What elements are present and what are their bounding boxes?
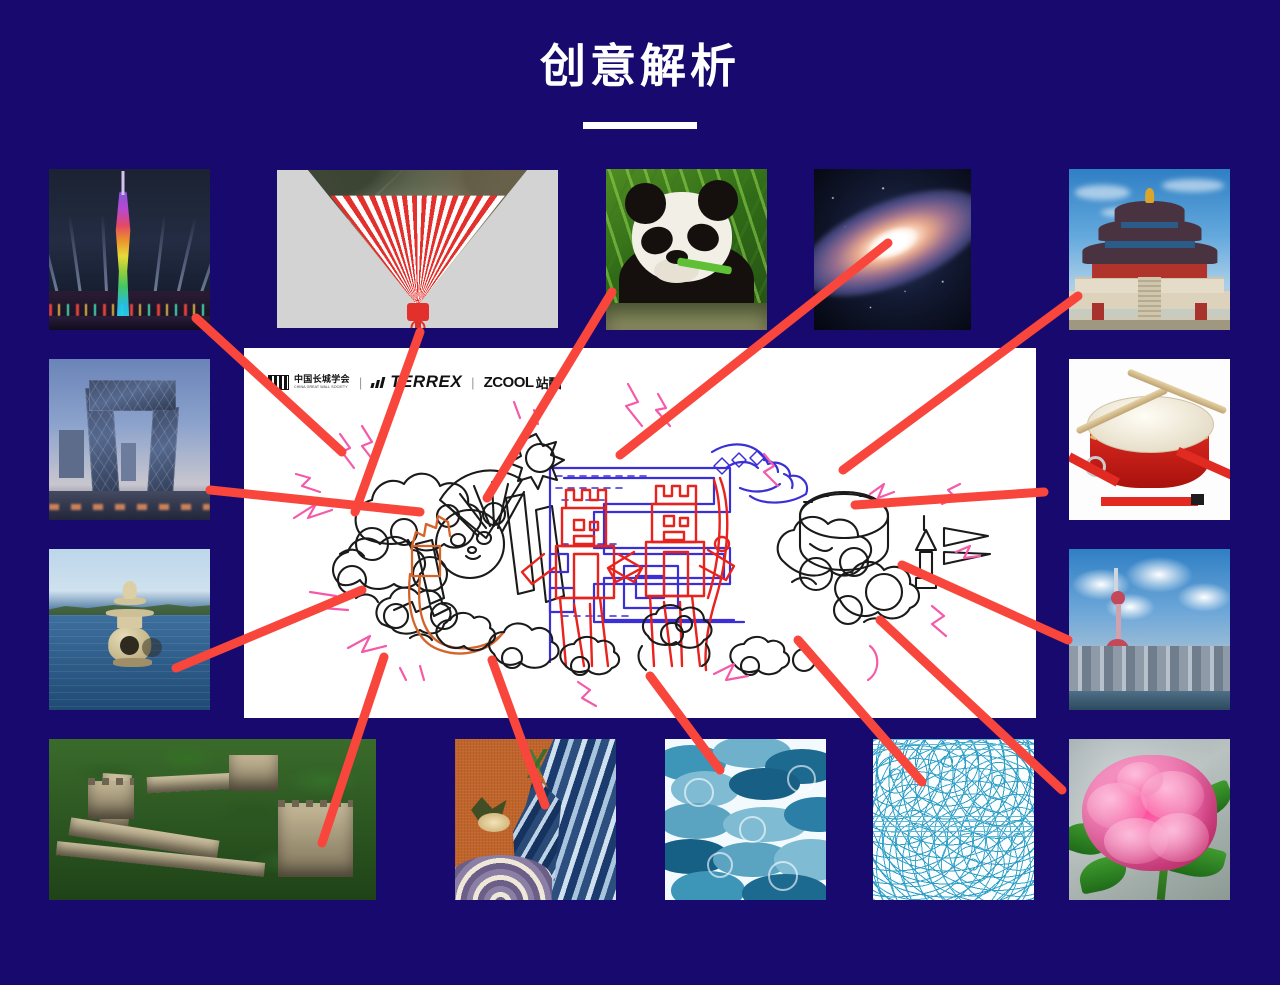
reference-photo-peony [1069, 739, 1230, 900]
reference-photo-cloud-pattern [665, 739, 826, 900]
reference-photo-folding-fan [277, 170, 558, 328]
page-title: 创意解析 [0, 38, 1280, 94]
central-illustration-card: 中国长城学会 CHINA GREAT WALL SOCIETY | TERREX… [244, 348, 1036, 718]
reference-photo-wave-pattern [873, 739, 1034, 900]
doodle-illustration [244, 348, 1036, 718]
reference-photo-west-lake-pagoda [49, 549, 210, 710]
reference-photo-cctv-building [49, 359, 210, 520]
presentation-slide: 创意解析 [0, 0, 1280, 985]
reference-photo-giant-panda [606, 169, 767, 330]
reference-photo-chinese-drum [1069, 359, 1230, 520]
reference-photo-great-wall [49, 739, 376, 900]
reference-photo-canton-tower [49, 169, 210, 330]
title-underline [583, 122, 697, 129]
reference-photo-silk-textile [455, 739, 616, 900]
reference-photo-oriental-pearl [1069, 549, 1230, 710]
reference-photo-galaxy [814, 169, 971, 330]
reference-photo-temple-of-heaven [1069, 169, 1230, 330]
